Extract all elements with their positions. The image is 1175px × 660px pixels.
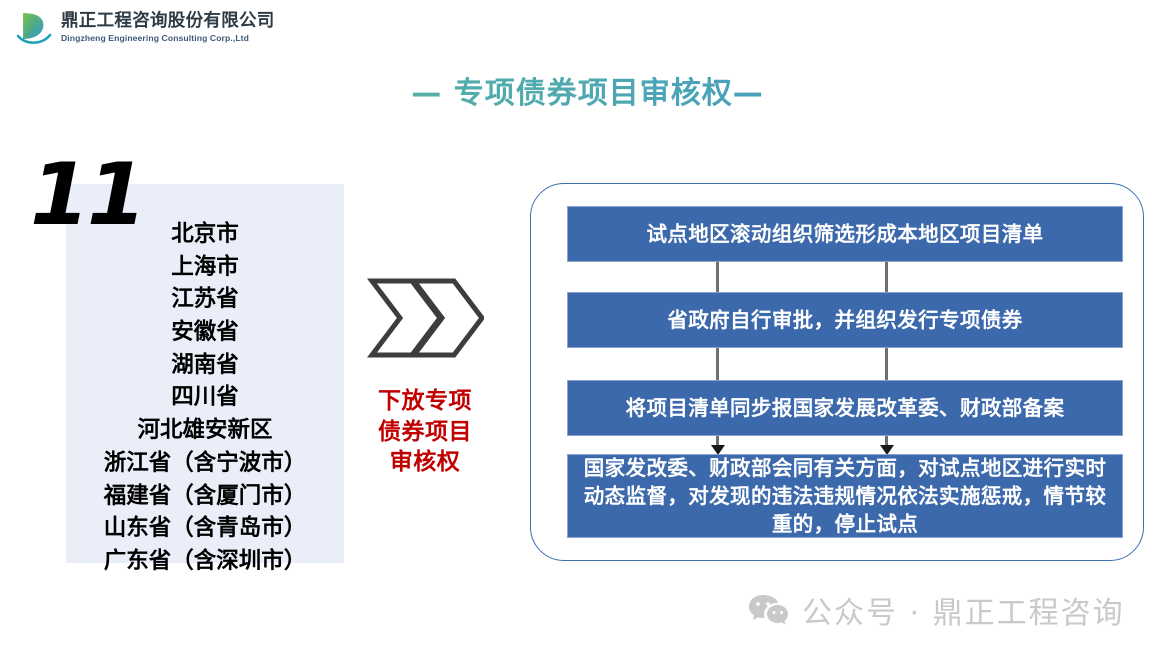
company-name-en: Dingzheng Engineering Consulting Corp.,L… (61, 34, 275, 43)
province-list: 北京市 上海市 江苏省 安徽省 湖南省 四川省 河北雄安新区 浙江省（含宁波市）… (66, 218, 344, 578)
watermark-text: 公众号 · 鼎正工程咨询 (802, 588, 1125, 632)
delegation-label: 下放专项 债券项目 审核权 (355, 386, 495, 478)
count-badge: 11 (30, 152, 144, 238)
company-name-cn: 鼎正工程咨询股份有限公司 (61, 13, 275, 31)
list-item: 上海市 (66, 251, 344, 284)
flow-step-2: 省政府自行审批，并组织发行专项债券 (567, 292, 1123, 348)
page-title: — 专项债券项目审核权— (0, 68, 1175, 112)
logo-text-block: 鼎正工程咨询股份有限公司 Dingzheng Engineering Consu… (61, 13, 275, 42)
list-item: 江苏省 (66, 283, 344, 316)
list-item: 湖南省 (66, 349, 344, 382)
list-item: 四川省 (66, 381, 344, 414)
delegation-label-line: 下放专项 (355, 386, 495, 417)
dingzheng-d-logo-icon (14, 8, 54, 48)
delegation-label-line: 债券项目 (355, 417, 495, 448)
double-chevron-right-icon (366, 276, 484, 360)
company-logo: 鼎正工程咨询股份有限公司 Dingzheng Engineering Consu… (14, 6, 262, 50)
flow-step-4: 国家发改委、财政部会同有关方面，对试点地区进行实时动态监督，对发现的违法违规情况… (567, 454, 1123, 538)
flow-step-1: 试点地区滚动组织筛选形成本地区项目清单 (567, 206, 1123, 262)
connector-line (885, 262, 888, 292)
flow-diagram: 试点地区滚动组织筛选形成本地区项目清单 省政府自行审批，并组织发行专项债券 将项… (530, 183, 1144, 561)
flow-step-3: 将项目清单同步报国家发展改革委、财政部备案 (567, 380, 1123, 436)
connector-line (716, 262, 719, 292)
list-item: 浙江省（含宁波市） (66, 447, 344, 480)
list-item: 广东省（含深圳市） (66, 545, 344, 578)
list-item: 河北雄安新区 (66, 414, 344, 447)
list-item: 安徽省 (66, 316, 344, 349)
delegation-label-line: 审核权 (355, 447, 495, 478)
list-item: 福建省（含厦门市） (66, 480, 344, 513)
slide-canvas: 鼎正工程咨询股份有限公司 Dingzheng Engineering Consu… (0, 0, 1175, 660)
list-item: 山东省（含青岛市） (66, 512, 344, 545)
wechat-icon (748, 593, 788, 627)
connector-line (716, 348, 719, 380)
wechat-watermark: 公众号 · 鼎正工程咨询 (748, 588, 1125, 632)
connector-line (885, 348, 888, 380)
